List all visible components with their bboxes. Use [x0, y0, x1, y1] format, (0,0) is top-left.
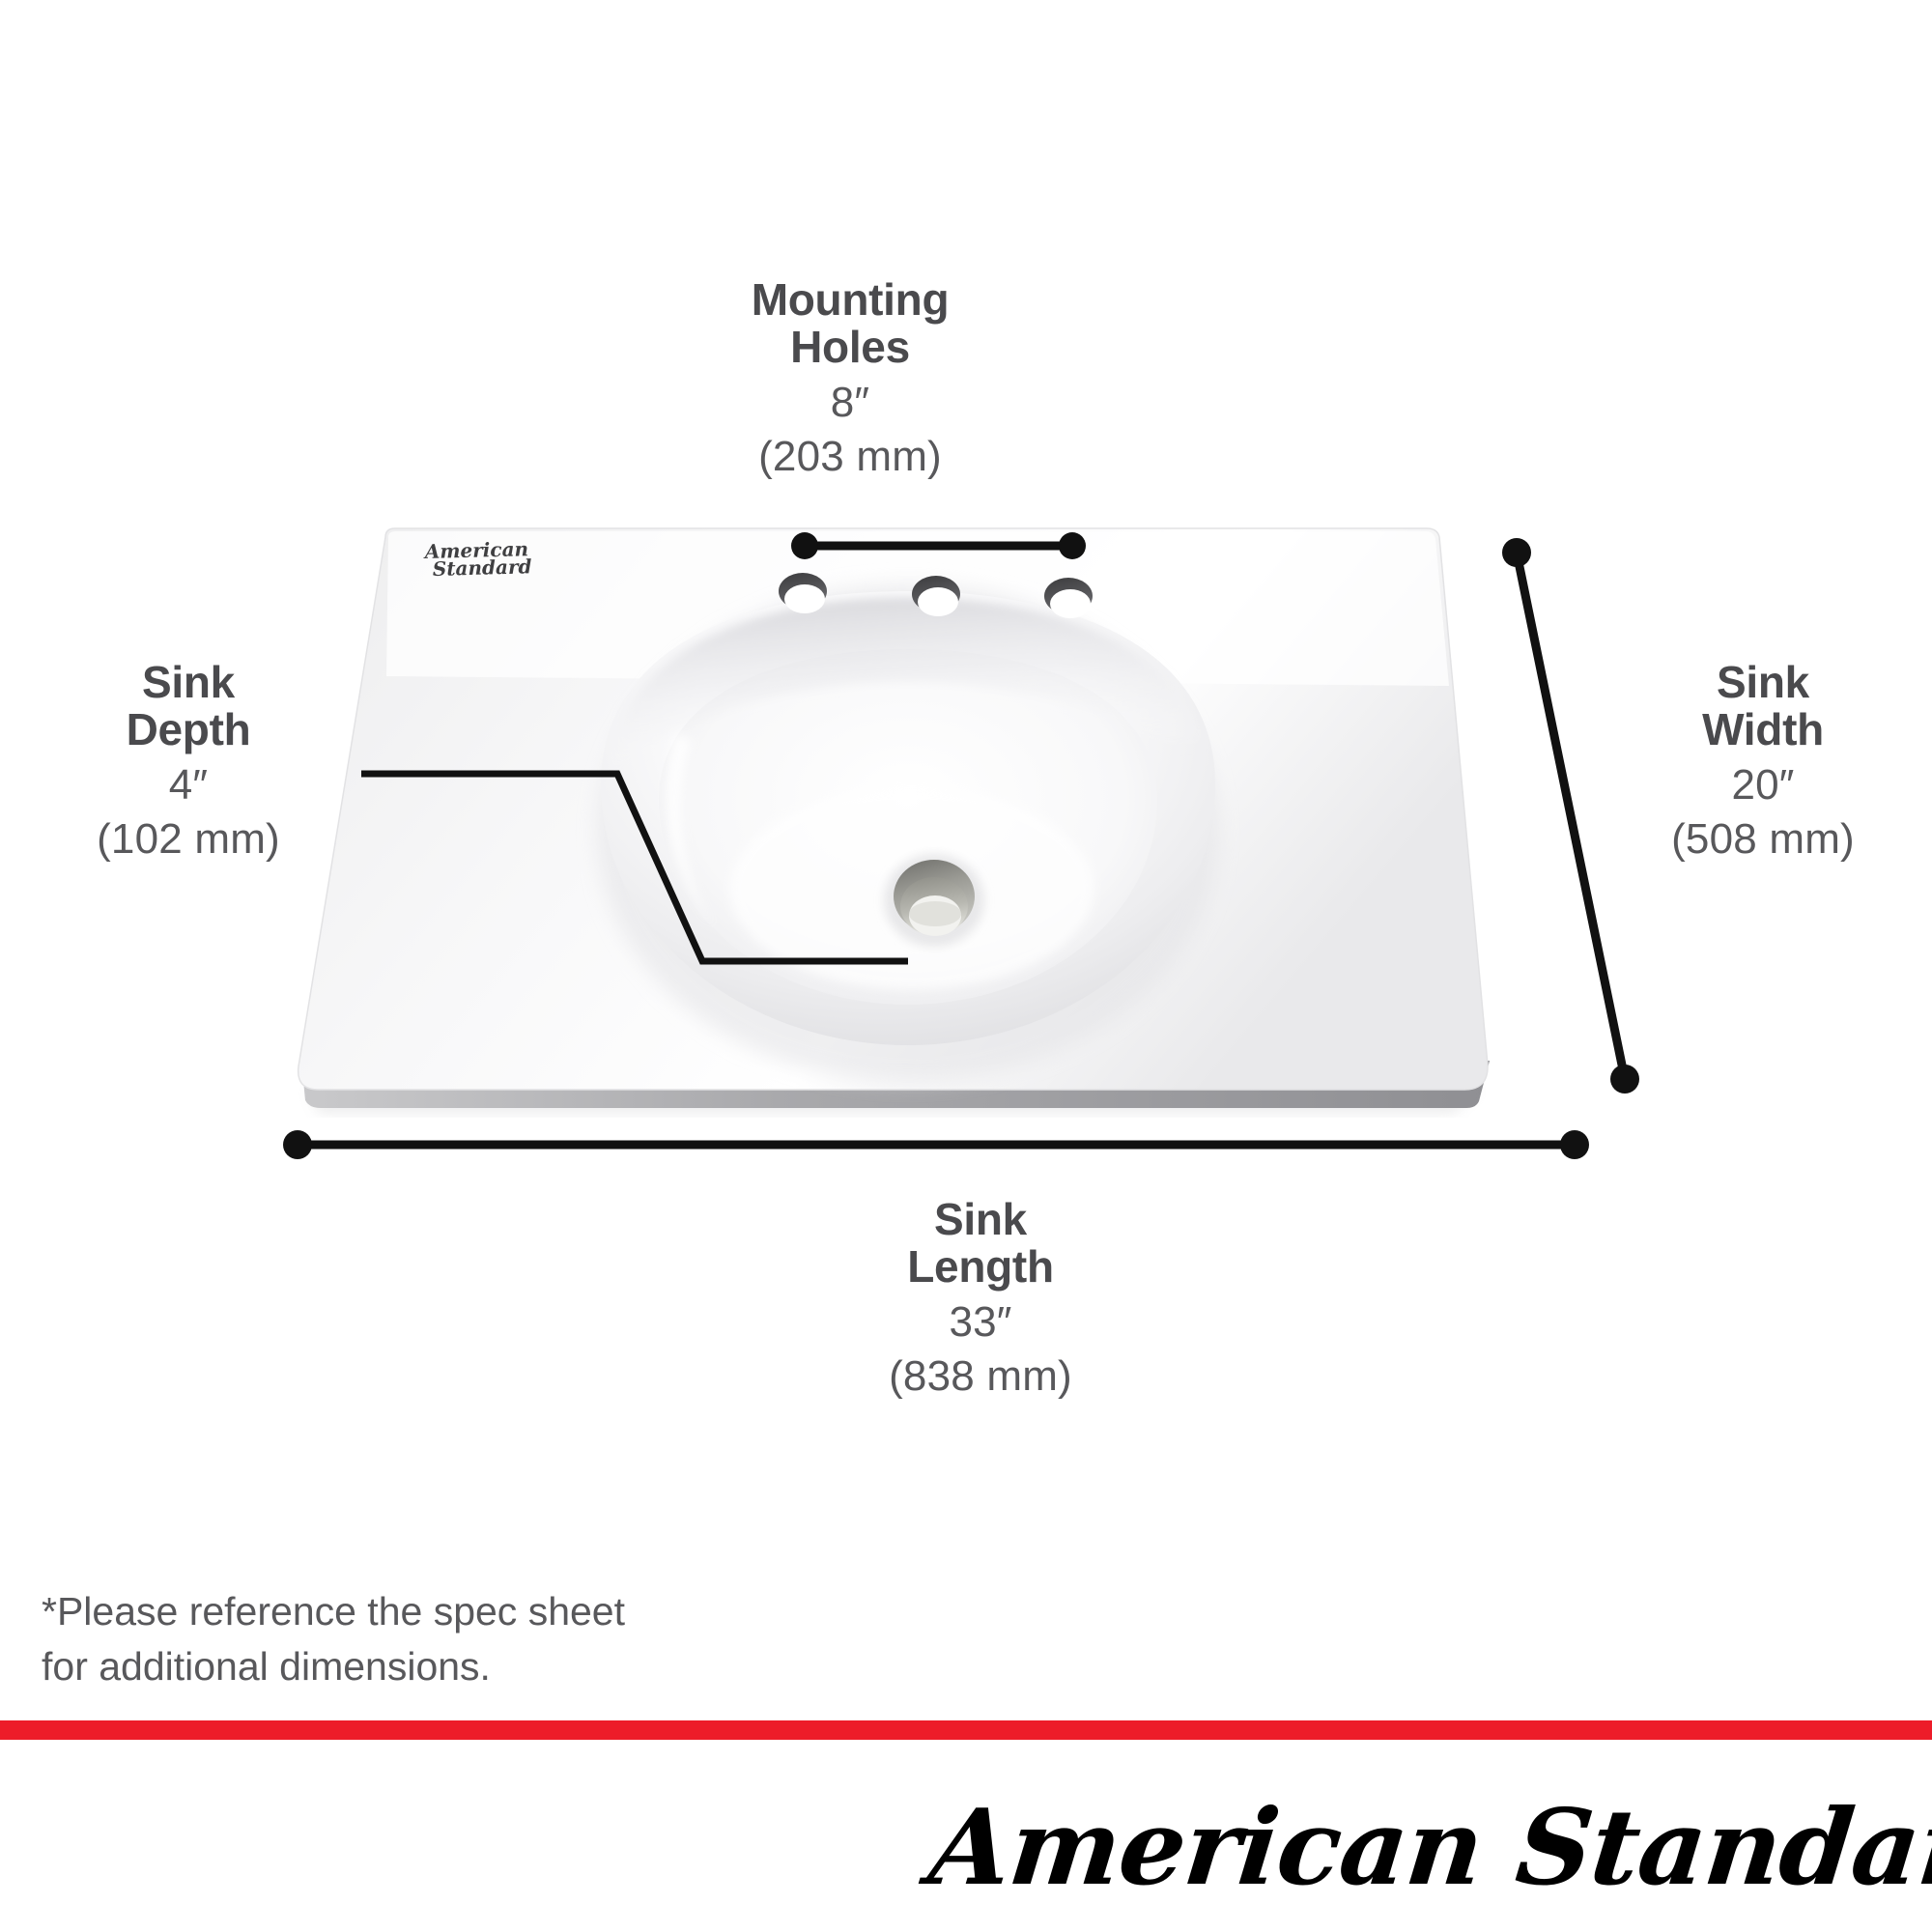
- sink-depth-imperial: 4″: [29, 763, 348, 809]
- svg-text:Standard: Standard: [433, 554, 532, 581]
- sink-length-dimension-line: [283, 1130, 1589, 1159]
- sink-length-title-line2: Length: [773, 1243, 1188, 1291]
- sink-depth-metric: (102 mm): [29, 817, 348, 863]
- sink-width-title-line2: Width: [1604, 706, 1922, 753]
- sink-depth-title-line1: Sink: [29, 659, 348, 706]
- sink-width-label: Sink Width 20″ (508 mm): [1604, 659, 1922, 863]
- sink-depth-title-line2: Depth: [29, 706, 348, 753]
- american-standard-logo: American Standard: [1058, 1776, 1918, 1920]
- mounting-holes-metric: (203 mm): [676, 435, 1024, 480]
- sink-brand-emboss: American Standard: [423, 537, 532, 581]
- sink-length-metric: (838 mm): [773, 1354, 1188, 1400]
- mounting-holes-label: Mounting Holes 8″ (203 mm): [676, 276, 1024, 480]
- mounting-holes-imperial: 8″: [676, 381, 1024, 426]
- sink-length-label: Sink Length 33″ (838 mm): [773, 1196, 1188, 1400]
- sink-length-title-line1: Sink: [773, 1196, 1188, 1243]
- sink-width-imperial: 20″: [1604, 763, 1922, 809]
- sink-width-metric: (508 mm): [1604, 817, 1922, 863]
- brand-logo-wordmark: American Standard: [1050, 1776, 1925, 1920]
- spec-sheet-footnote: *Please reference the spec sheet for add…: [42, 1584, 834, 1693]
- mounting-holes-title-line1: Mounting: [676, 276, 1024, 324]
- footnote-line-1: *Please reference the spec sheet: [42, 1584, 834, 1639]
- mounting-holes-title-line2: Holes: [676, 324, 1024, 371]
- drain: [884, 854, 984, 947]
- footnote-line-2: for additional dimensions.: [42, 1639, 834, 1694]
- sink-length-imperial: 33″: [773, 1300, 1188, 1346]
- brand-accent-rule: [0, 1720, 1932, 1740]
- sink-width-title-line1: Sink: [1604, 659, 1922, 706]
- sink-depth-label: Sink Depth 4″ (102 mm): [29, 659, 348, 863]
- diagram-canvas: American Standard Mounting Hol: [0, 0, 1932, 1932]
